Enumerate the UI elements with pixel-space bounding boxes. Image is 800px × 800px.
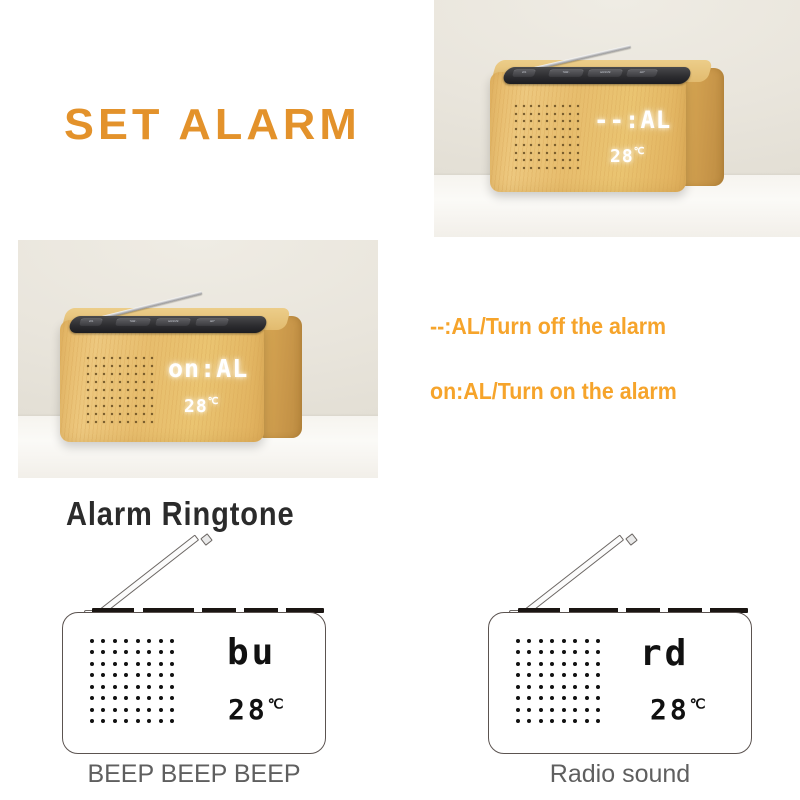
instruction-alarm-off: --:AL/Turn off the alarm [430,313,666,340]
led-main-display: on:AL [168,354,248,383]
photo-alarm-off: VOL TIME - SNOOZE SET [434,0,800,237]
antenna-tip [200,533,213,546]
button-snooze-label: SNOOZE [156,320,191,323]
ringtone-beep-diagram: bu 28℃ BEEP BEEP BEEP [0,530,400,800]
button-time[interactable]: TIME - [115,318,151,326]
button-set[interactable]: SET [195,318,229,326]
button-vol[interactable]: VOL [79,318,103,326]
page-title: SET ALARM [64,100,361,150]
ringtone-radio-caption: Radio sound [468,760,772,789]
button-snooze[interactable]: SNOOZE [155,318,191,326]
led-temperature: 28℃ [228,693,283,726]
ringtone-beep-caption: BEEP BEEP BEEP [42,760,346,789]
button-vol[interactable]: VOL [512,69,536,77]
section-heading-alarm-ringtone: Alarm Ringtone [66,495,295,533]
button-set-label: SET [627,71,658,74]
led-temperature: 28℃ [610,146,645,167]
led-main-display: --:AL [594,106,671,134]
led-temperature: 28℃ [184,396,219,417]
led-temperature-value: 28 [228,693,268,726]
button-time-label: TIME - [116,320,151,323]
speaker-grid [84,354,156,426]
button-snooze-label: SNOOZE [588,71,623,74]
led-temperature-unit: ℃ [208,396,220,407]
led-temperature-value: 28 [610,146,634,167]
ringtone-radio-diagram: rd 28℃ Radio sound [400,530,800,800]
button-time[interactable]: TIME - [548,69,584,77]
led-temperature-unit: ℃ [690,697,706,713]
led-temperature: 28℃ [650,693,705,726]
button-time-label: TIME - [549,71,584,74]
clock-side-panel [682,68,724,186]
clock-device-alarm-on: VOL TIME - SNOOZE SET on [60,310,300,440]
button-snooze[interactable]: SNOOZE [587,69,623,77]
infographic-page: VOL TIME - SNOOZE SET [0,0,800,800]
speaker-grid [512,635,604,727]
button-vol-label: VOL [80,320,103,323]
led-temperature-value: 28 [184,396,208,417]
instruction-alarm-on: on:AL/Turn on the alarm [430,378,677,405]
speaker-grid [512,102,582,172]
clock-device-alarm-off: VOL TIME - SNOOZE SET [490,62,720,192]
clock-side-panel [260,316,302,438]
button-set-label: SET [196,320,229,323]
led-temperature-unit: ℃ [634,146,646,157]
led-main-display: bu [227,632,276,673]
led-temperature-value: 28 [650,693,690,726]
antenna-tip [625,533,638,546]
button-set[interactable]: SET [626,69,658,77]
led-main-display: rd [640,633,689,674]
button-vol-label: VOL [513,71,536,74]
led-temperature-unit: ℃ [268,697,284,713]
speaker-grid [86,635,178,727]
photo-alarm-on: VOL TIME - SNOOZE SET on [18,240,378,478]
